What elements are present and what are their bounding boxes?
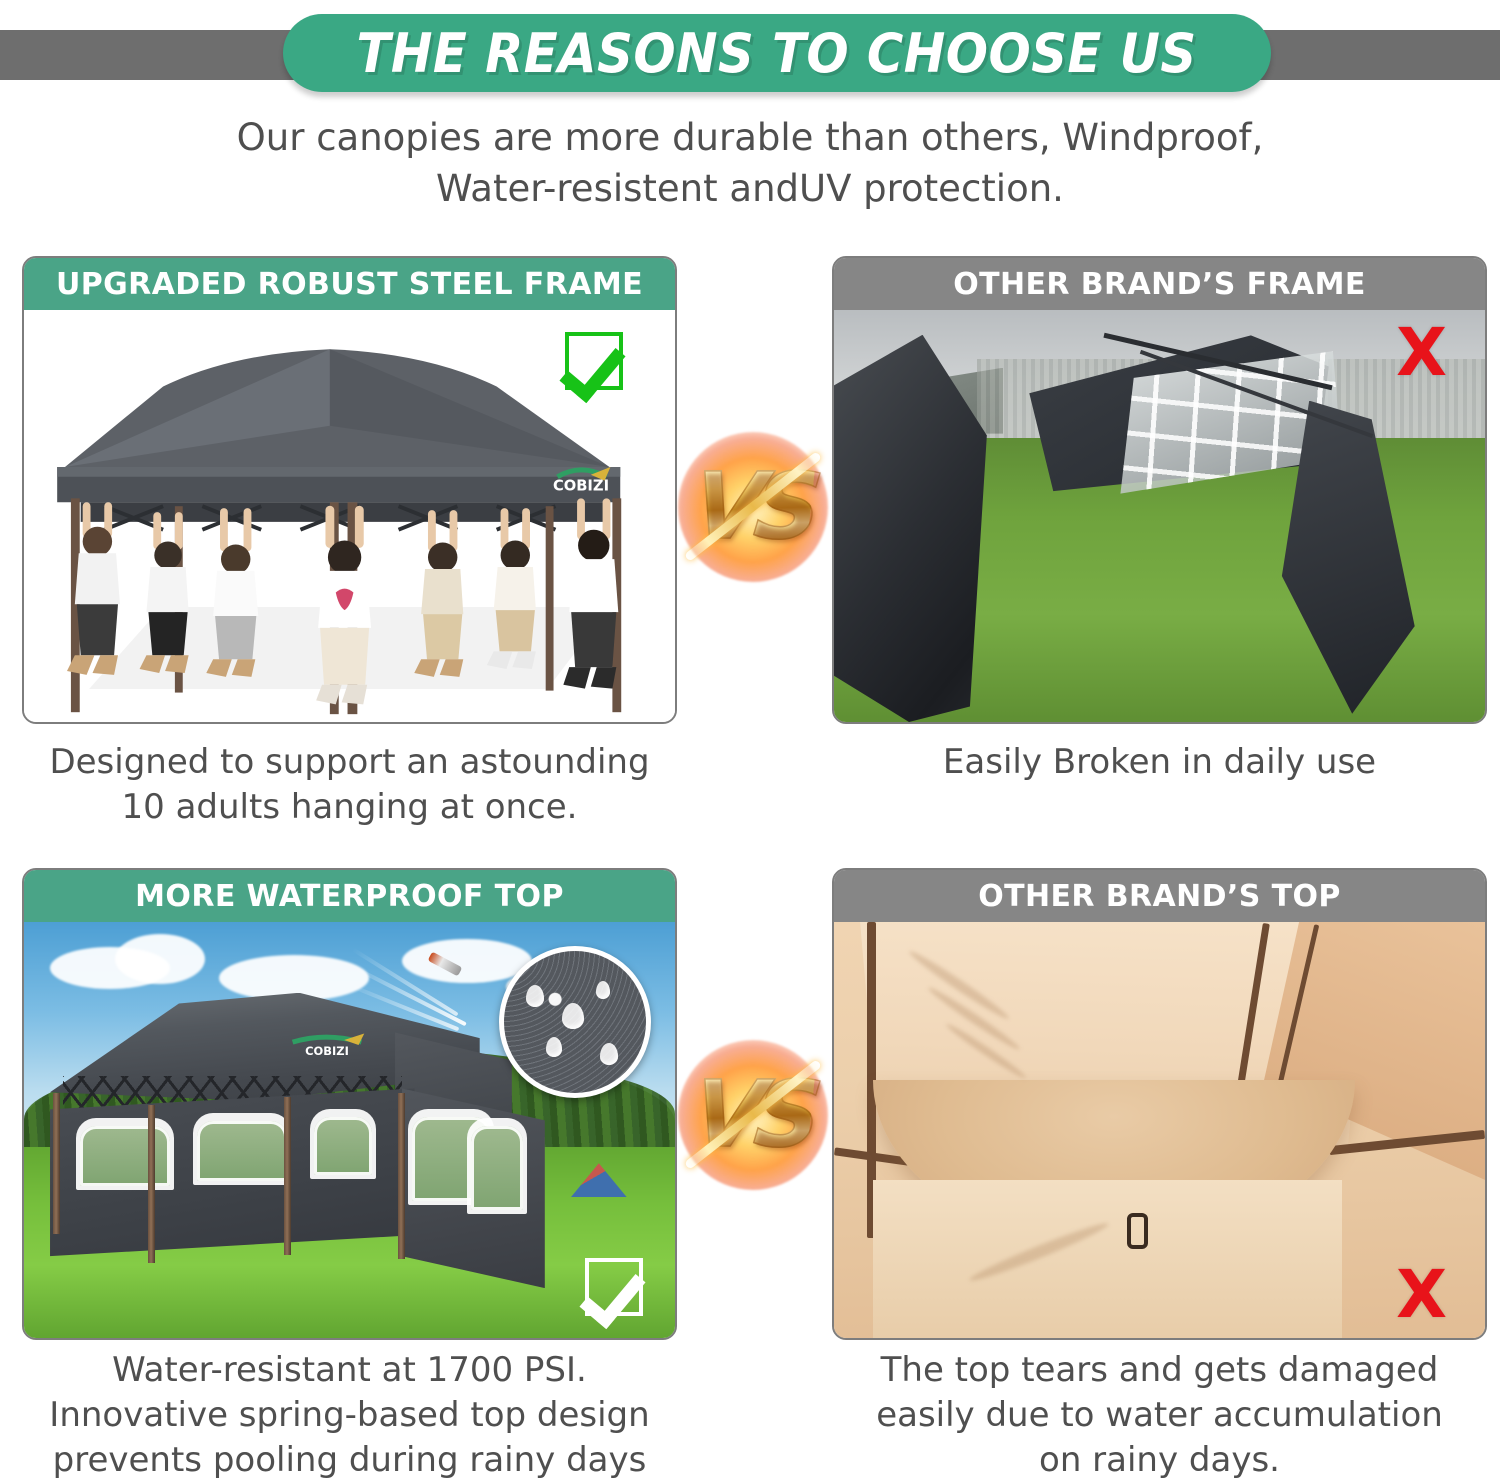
sagging-canopy-top-photo: X [834, 922, 1485, 1338]
broken-tent-photo: X [834, 310, 1485, 722]
card-more-waterproof-top: MORE WATERPROOF TOP [22, 868, 677, 1340]
caption-line-1: Designed to support an astounding [22, 740, 677, 785]
caption-other-brands-frame: Easily Broken in daily use [832, 740, 1487, 785]
endwall-window [467, 1118, 527, 1214]
vs-badge-top: VS [678, 432, 828, 582]
card-header-upgraded-steel-frame: UPGRADED ROBUST STEEL FRAME [24, 258, 675, 310]
card-header-other-brands-frame: OTHER BRAND’S FRAME [834, 258, 1485, 310]
card-header-label: OTHER BRAND’S TOP [978, 879, 1341, 914]
brand-logo-text: COBIZI [553, 477, 609, 494]
water-droplet [526, 985, 544, 1007]
hanging-person [206, 512, 258, 677]
canopy-leg [284, 1097, 291, 1255]
brand-logo-text: COBIZI [306, 1044, 350, 1058]
sidewall-fabric [873, 1180, 1342, 1338]
white-check-icon [585, 1258, 643, 1316]
card-image-upgraded-steel-frame: COBIZI [24, 310, 675, 722]
canopy-hanging-people-illustration: COBIZI [24, 310, 675, 722]
card-image-other-brands-frame: X [834, 310, 1485, 722]
caption-upgraded-steel-frame: Designed to support an astounding 10 adu… [22, 740, 677, 830]
card-image-more-waterproof-top: COBIZI [24, 922, 675, 1338]
card-header-more-waterproof-top: MORE WATERPROOF TOP [24, 870, 675, 922]
sidewall-window [76, 1118, 174, 1190]
sidewall-window [193, 1113, 291, 1185]
hanging-person [316, 510, 371, 704]
fabric-closeup-circle [499, 946, 651, 1098]
caption-more-waterproof-top: Water-resistant at 1700 PSI. Innovative … [12, 1348, 687, 1483]
vs-badge-bottom: VS [678, 1040, 828, 1190]
water-droplet [600, 1043, 618, 1065]
hanging-person [487, 512, 536, 669]
canopy-leg [398, 1093, 405, 1259]
hanging-person [140, 516, 189, 673]
water-droplet [546, 1037, 562, 1057]
brand-logo-svg: COBIZI [284, 1030, 370, 1060]
card-header-label: UPGRADED ROBUST STEEL FRAME [56, 267, 643, 302]
caption-line-1: The top tears and gets damaged [832, 1348, 1487, 1393]
card-upgraded-steel-frame: UPGRADED ROBUST STEEL FRAME [22, 256, 677, 724]
red-x-icon: X [1396, 320, 1447, 386]
hanging-person [563, 502, 618, 688]
card-other-brands-top: OTHER BRAND’S TOP [832, 868, 1487, 1340]
cloud [402, 939, 532, 983]
hanging-person [414, 514, 463, 677]
caption-line-2: 10 adults hanging at once. [22, 785, 677, 830]
card-image-other-brands-top: X [834, 922, 1485, 1338]
card-header-label: OTHER BRAND’S FRAME [953, 267, 1366, 302]
caption-line-2: Innovative spring-based top design [12, 1393, 687, 1438]
caption-line-2: easily due to water accumulation [832, 1393, 1487, 1438]
canopy-leg [148, 1105, 155, 1263]
card-other-brands-frame: OTHER BRAND’S FRAME X [832, 256, 1487, 724]
water-droplet [562, 1003, 584, 1029]
caption-other-brands-top: The top tears and gets damaged easily du… [832, 1348, 1487, 1483]
green-check-icon [565, 332, 623, 390]
water-droplet [596, 981, 610, 999]
caption-line-1: Easily Broken in daily use [832, 740, 1487, 785]
zipper-pull-icon [1127, 1213, 1148, 1249]
caption-line-1: Water-resistant at 1700 PSI. [12, 1348, 687, 1393]
card-header-label: MORE WATERPROOF TOP [135, 879, 564, 914]
sidewall-window [310, 1109, 376, 1179]
red-x-icon: X [1396, 1262, 1447, 1328]
comparison-grid: UPGRADED ROBUST STEEL FRAME [0, 0, 1500, 1461]
waterproof-canopy-photo: COBIZI [24, 922, 675, 1338]
card-header-other-brands-top: OTHER BRAND’S TOP [834, 870, 1485, 922]
canopy-leg [53, 1093, 60, 1234]
